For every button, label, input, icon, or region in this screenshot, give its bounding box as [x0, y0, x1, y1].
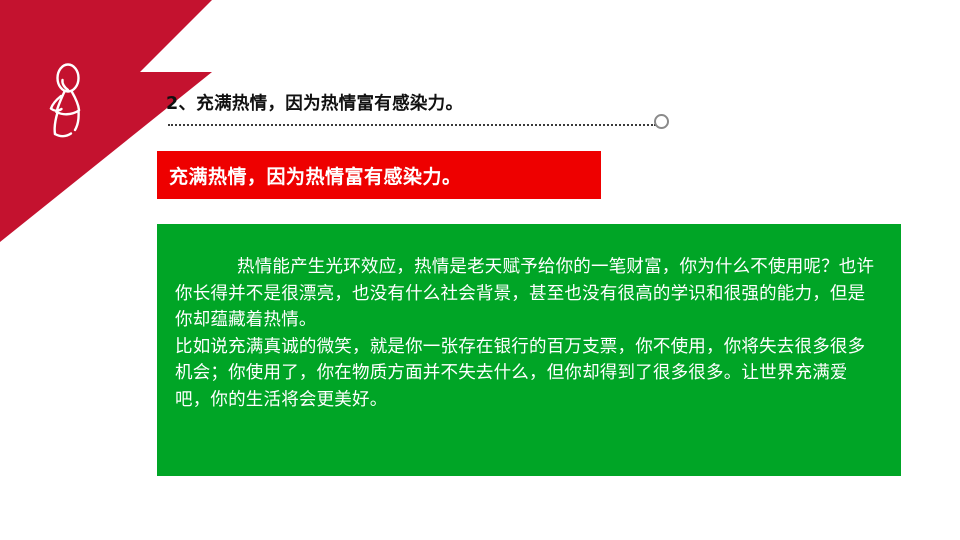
circle-outline-icon — [654, 114, 669, 129]
title-bar-label: 充满热情，因为热情富有感染力。 — [169, 162, 462, 189]
title-bar: 充满热情，因为热情富有感染力。 — [157, 151, 601, 199]
slide-canvas: 2、充满热情，因为热情富有感染力。 充满热情，因为热情富有感染力。 热情能产生光… — [0, 0, 960, 540]
dotted-leader — [168, 120, 656, 126]
heading-row: 2、充满热情，因为热情富有感染力。 — [166, 90, 686, 138]
body-paragraph: 热情能产生光环效应，热情是老天赋予给你的一笔财富，你为什么不使用呢？也许你长得并… — [175, 254, 875, 334]
body-paragraph: 比如说充满真诚的微笑，就是你一张存在银行的百万支票，你不使用，你将失去很多很多机… — [175, 334, 875, 414]
body-content-box: 热情能产生光环效应，热情是老天赋予给你的一笔财富，你为什么不使用呢？也许你长得并… — [157, 224, 901, 476]
page-title: 2、充满热情，因为热情富有感染力。 — [166, 90, 463, 115]
